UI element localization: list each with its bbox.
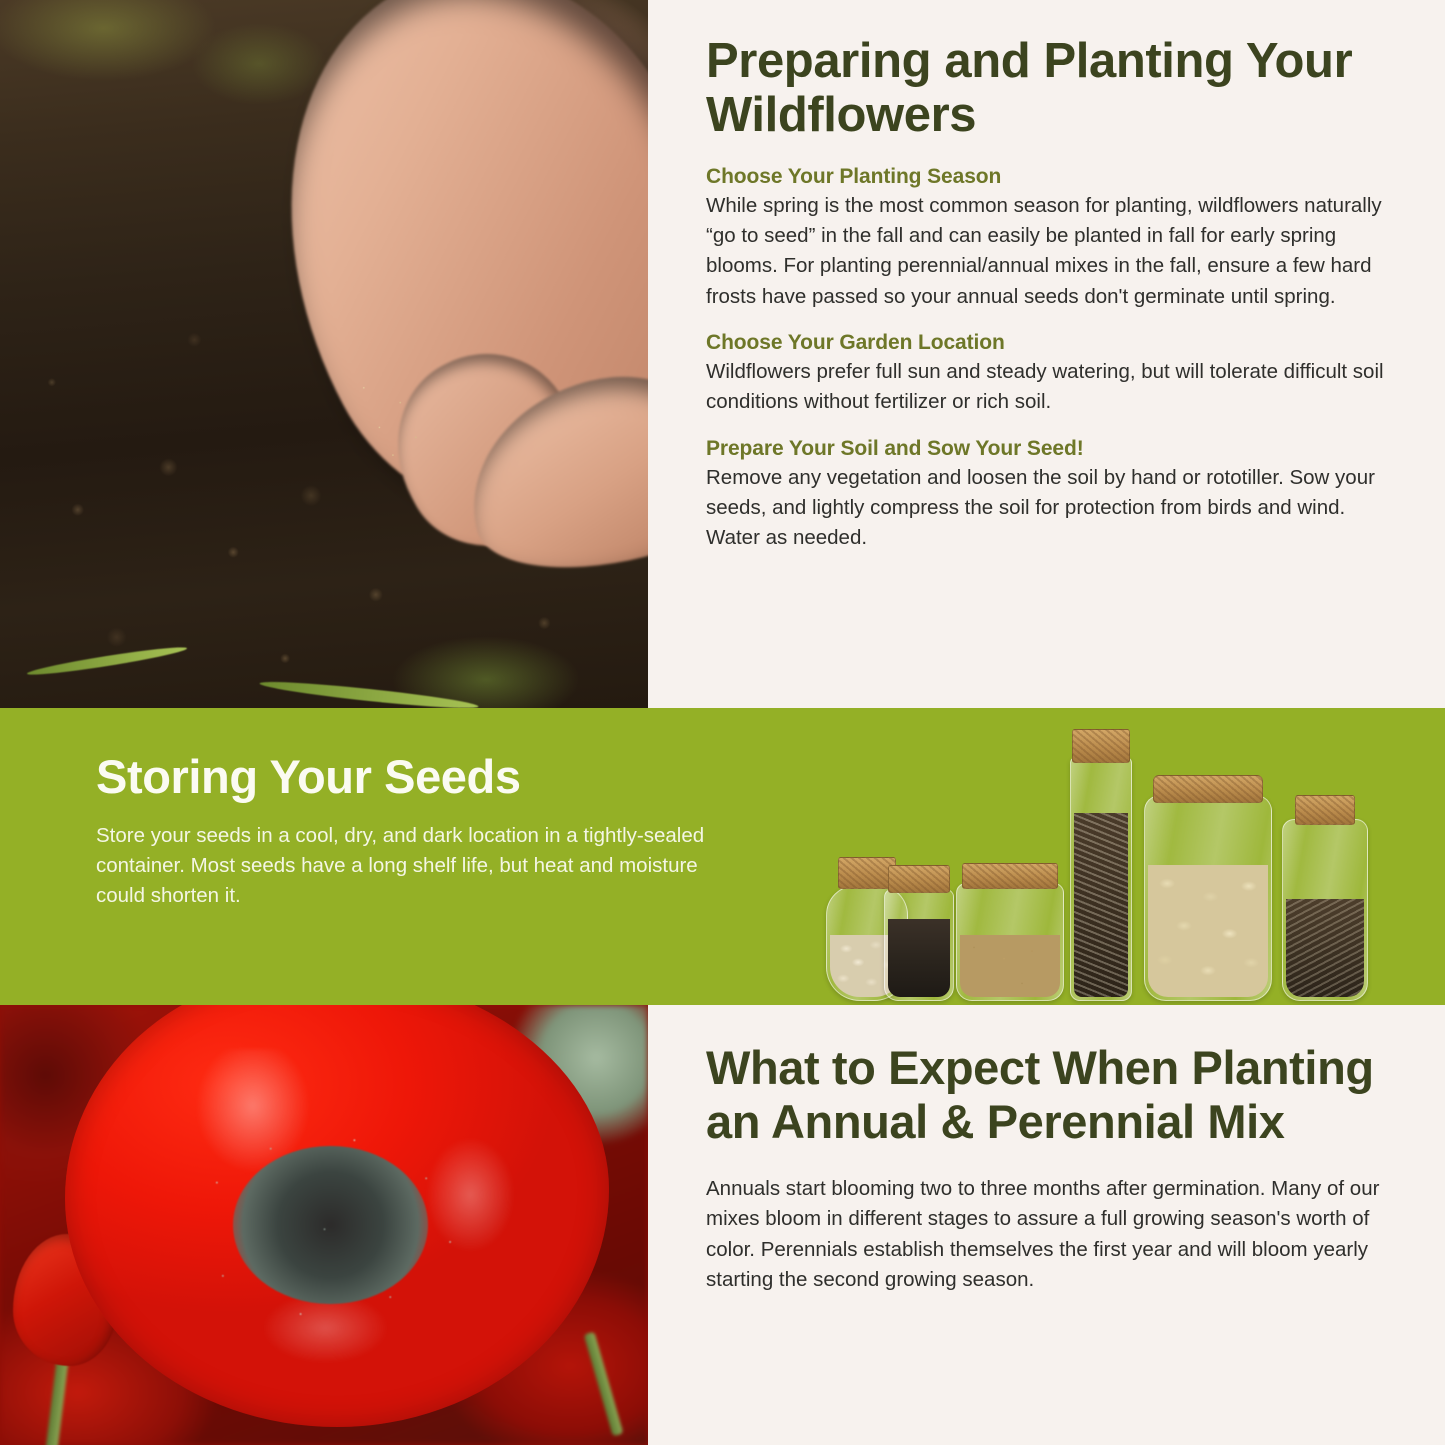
storing-seeds-paragraph: Store your seeds in a cool, dry, and dar… [96,821,716,910]
jar-contents [1148,865,1268,997]
cork-lid-icon [1295,795,1355,825]
jar-contents [960,935,1060,997]
cork-lid-icon [962,863,1058,889]
jar-contents [888,919,950,997]
red-poppy-flower-closeup-photo [0,1005,648,1445]
cork-lid-icon [1072,729,1130,763]
section-what-to-expect: What to Expect When Planting an Annual &… [0,1005,1445,1445]
storing-seeds-heading: Storing Your Seeds [96,752,716,801]
jar-glass [1070,757,1132,1001]
what-to-expect-paragraph: Annuals start blooming two to three mont… [706,1174,1399,1295]
jar-contents [1074,813,1128,997]
section2-copy: Storing Your Seeds Store your seeds in a… [96,752,716,911]
subheading-garden-location: Choose Your Garden Location [706,331,1399,355]
falling-seeds [343,368,447,467]
jar-sunflower-seeds [1282,795,1368,1001]
paragraph-prepare-soil: Remove any vegetation and loosen the soi… [706,463,1399,554]
cork-lid-icon [1153,775,1263,803]
jar-glass [956,883,1064,1001]
hands-sowing-seeds-in-soil-photo [0,0,648,708]
section3-copy: What to Expect When Planting an Annual &… [648,1005,1445,1445]
section1-copy: Preparing and Planting Your Wildflowers … [648,0,1445,708]
jar-contents [1286,899,1364,997]
paragraph-garden-location: Wildflowers prefer full sun and steady w… [706,357,1399,418]
jar-glass [884,889,954,1001]
section-storing-your-seeds: Storing Your Seeds Store your seeds in a… [0,708,1445,1005]
section-preparing-and-planting: Preparing and Planting Your Wildflowers … [0,0,1445,708]
what-to-expect-heading: What to Expect When Planting an Annual &… [706,1041,1399,1148]
jar-glass [1282,819,1368,1001]
infographic-page: Preparing and Planting Your Wildflowers … [0,0,1445,1445]
paragraph-planting-season: While spring is the most common season f… [706,191,1399,312]
page-title: Preparing and Planting Your Wildflowers [706,34,1399,143]
jar-glass [1144,795,1272,1001]
jar-fine-brown-seeds [956,855,1064,1001]
glass-seed-storage-jars-photo [820,708,1420,1005]
jar-tall-tube-dark-seeds [1070,733,1132,1001]
jar-large-pumpkin-seeds [1144,767,1272,1001]
cork-lid-icon [888,865,950,893]
subheading-planting-season: Choose Your Planting Season [706,165,1399,189]
jar-black-seeds [884,869,954,1001]
subheading-prepare-soil: Prepare Your Soil and Sow Your Seed! [706,437,1399,461]
poppy-stamens [181,1119,479,1330]
